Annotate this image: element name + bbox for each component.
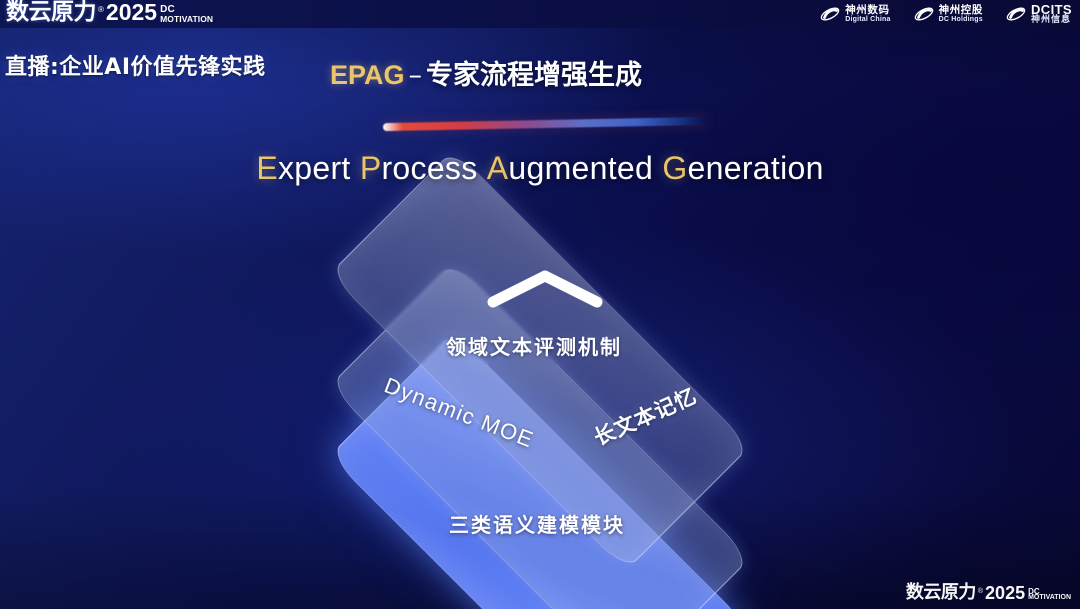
brand-year: 2025: [106, 1, 157, 24]
subtitle-cap-p: P: [360, 150, 382, 186]
brand-lockup: 数云原力 ® 2025 DC MOTIVATION: [6, 1, 213, 24]
subtitle-rest-expert: xpert: [278, 150, 351, 186]
partner-name-en: 神州信息: [1031, 16, 1072, 25]
watermark-registered-mark-icon: ®: [978, 588, 983, 595]
registered-mark-icon: ®: [98, 5, 104, 14]
partner-logo-text: 神州控股 DC Holdings: [939, 5, 983, 23]
watermark-name-cn: 数云原力: [906, 584, 976, 602]
title-acronym: EPAG: [330, 60, 405, 90]
subtitle-cap-g: G: [662, 150, 687, 186]
brand-dc-word: MOTIVATION: [160, 15, 213, 23]
swoosh-icon: [819, 4, 841, 24]
chevron-up-icon: [487, 268, 603, 308]
watermark-dc-word: MOTIVATION: [1028, 595, 1071, 602]
watermark-year: 2025: [985, 584, 1025, 602]
partner-logo-text: DCITS 神州信息: [1031, 3, 1072, 25]
page-subtitle: Expert Process Augmented Generation: [0, 150, 1080, 187]
subtitle-rest-process: rocess: [381, 150, 477, 186]
diagram-layer-top-label: 领域文本评测机制: [446, 331, 622, 360]
watermark-brand-lockup: 数云原力 ® 2025 DC MOTIVATION: [906, 584, 1071, 602]
partner-logo-dcits: DCITS 神州信息: [1005, 3, 1072, 25]
slide-canvas: 数云原力 ® 2025 DC MOTIVATION 直播:企业AI价值先锋实践 …: [0, 0, 1080, 609]
brand-dc-lockup: DC MOTIVATION: [160, 5, 213, 23]
watermark-dc-lockup: DC MOTIVATION: [1028, 588, 1071, 602]
live-strap-label: 直播:企业AI价值先锋实践: [5, 49, 266, 81]
page-title: EPAG–专家流程增强生成: [330, 53, 642, 92]
subtitle-cap-e: E: [256, 150, 278, 186]
brand-name-cn: 数云原力: [6, 1, 96, 24]
diagram-layer-bottom-label: 三类语义建模模块: [449, 509, 625, 538]
subtitle-cap-a: A: [487, 150, 509, 186]
partner-name-en: DC Holdings: [939, 16, 983, 23]
partner-name-en: Digital China: [845, 16, 890, 23]
partner-logo-digital-china: 神州数码 Digital China: [819, 3, 890, 25]
partner-name-cn: 神州数码: [845, 5, 890, 16]
title-dash: –: [405, 60, 427, 91]
subtitle-rest-augmented: ugmented: [508, 150, 653, 186]
partner-logo-text: 神州数码 Digital China: [845, 5, 890, 23]
partner-logo-dc-holdings: 神州控股 DC Holdings: [913, 3, 983, 25]
subtitle-rest-generation: eneration: [688, 150, 824, 186]
title-cn: 专家流程增强生成: [426, 60, 642, 91]
swoosh-icon: [913, 4, 935, 24]
partner-logo-group: 神州数码 Digital China 神州控股 DC Holdings: [819, 3, 1072, 25]
partner-name-cn: 神州控股: [939, 5, 983, 16]
swoosh-icon: [1005, 4, 1027, 24]
